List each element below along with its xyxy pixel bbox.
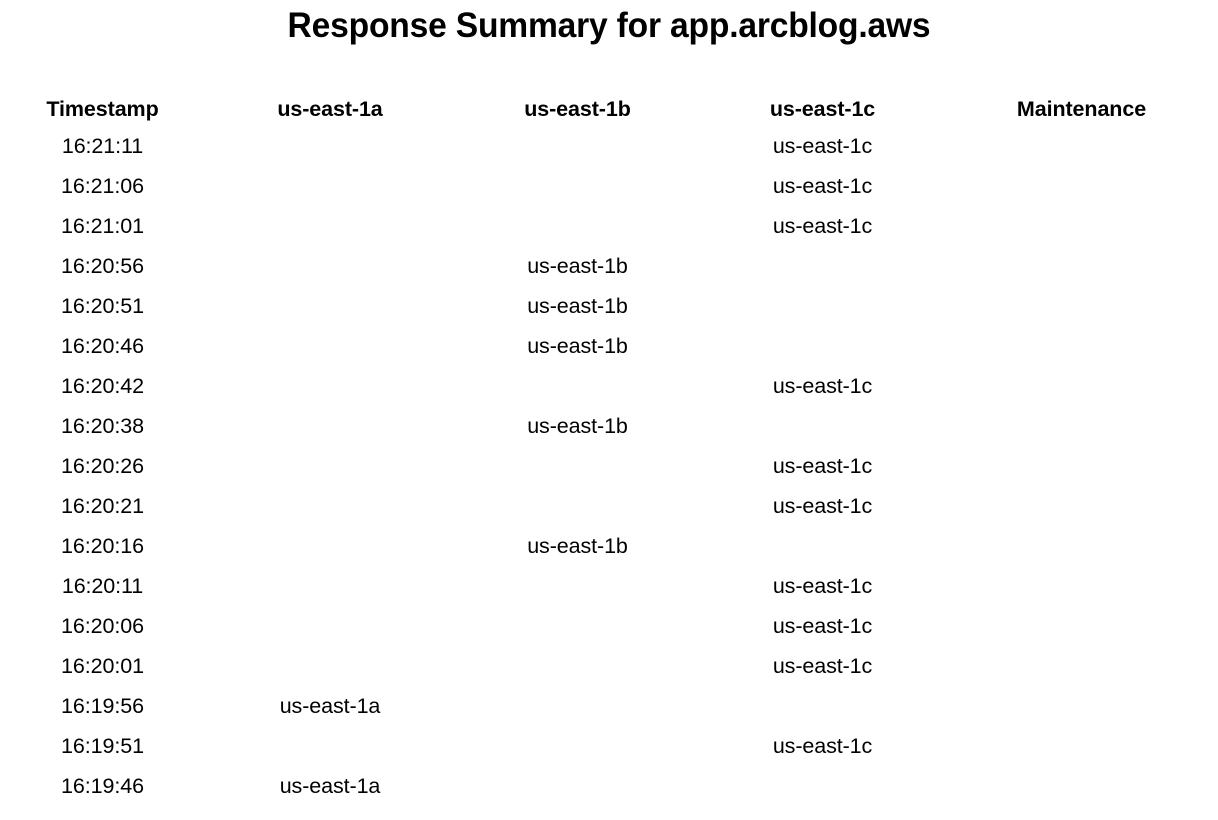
cell-us_east_1b-empty [455,726,700,766]
table-header: Timestamp us-east-1a us-east-1b us-east-… [0,92,1218,126]
cell-us_east_1c-empty [700,246,945,286]
cell-maintenance-empty [945,246,1218,286]
cell-us_east_1c: us-east-1c [700,646,945,686]
cell-us_east_1c: us-east-1c [700,486,945,526]
cell-us_east_1c: us-east-1c [700,726,945,766]
cell-us_east_1b-empty [455,566,700,606]
cell-us_east_1c-empty [700,526,945,566]
cell-us_east_1b-empty [455,126,700,166]
cell-us_east_1c: us-east-1c [700,566,945,606]
cell-us_east_1a-empty [205,326,455,366]
column-header-us-east-1a: us-east-1a [205,92,455,126]
cell-maintenance-empty [945,406,1218,446]
cell-timestamp: 16:20:38 [0,406,205,446]
cell-maintenance-empty [945,566,1218,606]
cell-maintenance-empty [945,206,1218,246]
cell-us_east_1a-empty [205,726,455,766]
cell-timestamp: 16:19:56 [0,686,205,726]
cell-us_east_1b-empty [455,446,700,486]
cell-us_east_1a-empty [205,446,455,486]
table-row: 16:20:42us-east-1c [0,366,1218,406]
table-row: 16:20:46us-east-1b [0,326,1218,366]
column-header-us-east-1b: us-east-1b [455,92,700,126]
cell-us_east_1b-empty [455,206,700,246]
cell-us_east_1a-empty [205,286,455,326]
cell-us_east_1a-empty [205,246,455,286]
cell-us_east_1a-empty [205,166,455,206]
cell-us_east_1a-empty [205,526,455,566]
cell-us_east_1c-empty [700,326,945,366]
table-row: 16:20:51us-east-1b [0,286,1218,326]
cell-us_east_1b-empty [455,646,700,686]
table-row: 16:19:56us-east-1a [0,686,1218,726]
cell-us_east_1b: us-east-1b [455,326,700,366]
cell-us_east_1c: us-east-1c [700,206,945,246]
cell-timestamp: 16:20:16 [0,526,205,566]
cell-us_east_1b-empty [455,606,700,646]
table-row: 16:20:26us-east-1c [0,446,1218,486]
cell-maintenance-empty [945,166,1218,206]
cell-us_east_1b-empty [455,686,700,726]
cell-us_east_1c-empty [700,686,945,726]
cell-timestamp: 16:20:56 [0,246,205,286]
table-row: 16:20:06us-east-1c [0,606,1218,646]
cell-us_east_1a-empty [205,606,455,646]
table-header-row: Timestamp us-east-1a us-east-1b us-east-… [0,92,1218,126]
cell-us_east_1c: us-east-1c [700,166,945,206]
cell-us_east_1a-empty [205,366,455,406]
cell-maintenance-empty [945,286,1218,326]
table-row: 16:20:21us-east-1c [0,486,1218,526]
table-row: 16:19:46us-east-1a [0,766,1218,806]
column-header-timestamp: Timestamp [0,92,205,126]
cell-timestamp: 16:21:06 [0,166,205,206]
table-row: 16:20:01us-east-1c [0,646,1218,686]
page-root: Response Summary for app.arcblog.aws Tim… [0,0,1218,820]
table-row: 16:21:11us-east-1c [0,126,1218,166]
cell-timestamp: 16:20:11 [0,566,205,606]
cell-maintenance-empty [945,486,1218,526]
cell-us_east_1a: us-east-1a [205,686,455,726]
cell-us_east_1a-empty [205,406,455,446]
cell-us_east_1c: us-east-1c [700,366,945,406]
cell-timestamp: 16:20:21 [0,486,205,526]
cell-maintenance-empty [945,686,1218,726]
cell-maintenance-empty [945,726,1218,766]
response-summary-table: Timestamp us-east-1a us-east-1b us-east-… [0,92,1218,806]
cell-us_east_1c-empty [700,406,945,446]
cell-maintenance-empty [945,126,1218,166]
cell-us_east_1a-empty [205,206,455,246]
cell-us_east_1c-empty [700,286,945,326]
cell-us_east_1b-empty [455,166,700,206]
cell-maintenance-empty [945,646,1218,686]
cell-us_east_1c-empty [700,766,945,806]
cell-timestamp: 16:20:42 [0,366,205,406]
cell-us_east_1c: us-east-1c [700,126,945,166]
cell-us_east_1b: us-east-1b [455,246,700,286]
cell-timestamp: 16:20:01 [0,646,205,686]
cell-us_east_1c: us-east-1c [700,446,945,486]
cell-timestamp: 16:20:06 [0,606,205,646]
table-row: 16:20:16us-east-1b [0,526,1218,566]
table-row: 16:20:56us-east-1b [0,246,1218,286]
cell-timestamp: 16:20:51 [0,286,205,326]
cell-us_east_1b: us-east-1b [455,406,700,446]
column-header-us-east-1c: us-east-1c [700,92,945,126]
table-body: 16:21:11us-east-1c16:21:06us-east-1c16:2… [0,126,1218,806]
cell-maintenance-empty [945,366,1218,406]
cell-maintenance-empty [945,326,1218,366]
table-row: 16:20:11us-east-1c [0,566,1218,606]
cell-timestamp: 16:20:46 [0,326,205,366]
cell-timestamp: 16:21:11 [0,126,205,166]
table-row: 16:21:01us-east-1c [0,206,1218,246]
cell-us_east_1b-empty [455,366,700,406]
table-row: 16:19:51us-east-1c [0,726,1218,766]
cell-maintenance-empty [945,766,1218,806]
table-row: 16:21:06us-east-1c [0,166,1218,206]
cell-us_east_1b-empty [455,486,700,526]
cell-us_east_1a-empty [205,486,455,526]
table-row: 16:20:38us-east-1b [0,406,1218,446]
cell-maintenance-empty [945,446,1218,486]
cell-timestamp: 16:19:51 [0,726,205,766]
cell-us_east_1a-empty [205,566,455,606]
cell-us_east_1b: us-east-1b [455,526,700,566]
page-title: Response Summary for app.arcblog.aws [24,4,1193,48]
cell-timestamp: 16:20:26 [0,446,205,486]
cell-us_east_1c: us-east-1c [700,606,945,646]
cell-maintenance-empty [945,526,1218,566]
cell-us_east_1b: us-east-1b [455,286,700,326]
cell-us_east_1a: us-east-1a [205,766,455,806]
column-header-maintenance: Maintenance [945,92,1218,126]
cell-us_east_1a-empty [205,126,455,166]
cell-maintenance-empty [945,606,1218,646]
cell-us_east_1a-empty [205,646,455,686]
cell-timestamp: 16:19:46 [0,766,205,806]
cell-us_east_1b-empty [455,766,700,806]
cell-timestamp: 16:21:01 [0,206,205,246]
